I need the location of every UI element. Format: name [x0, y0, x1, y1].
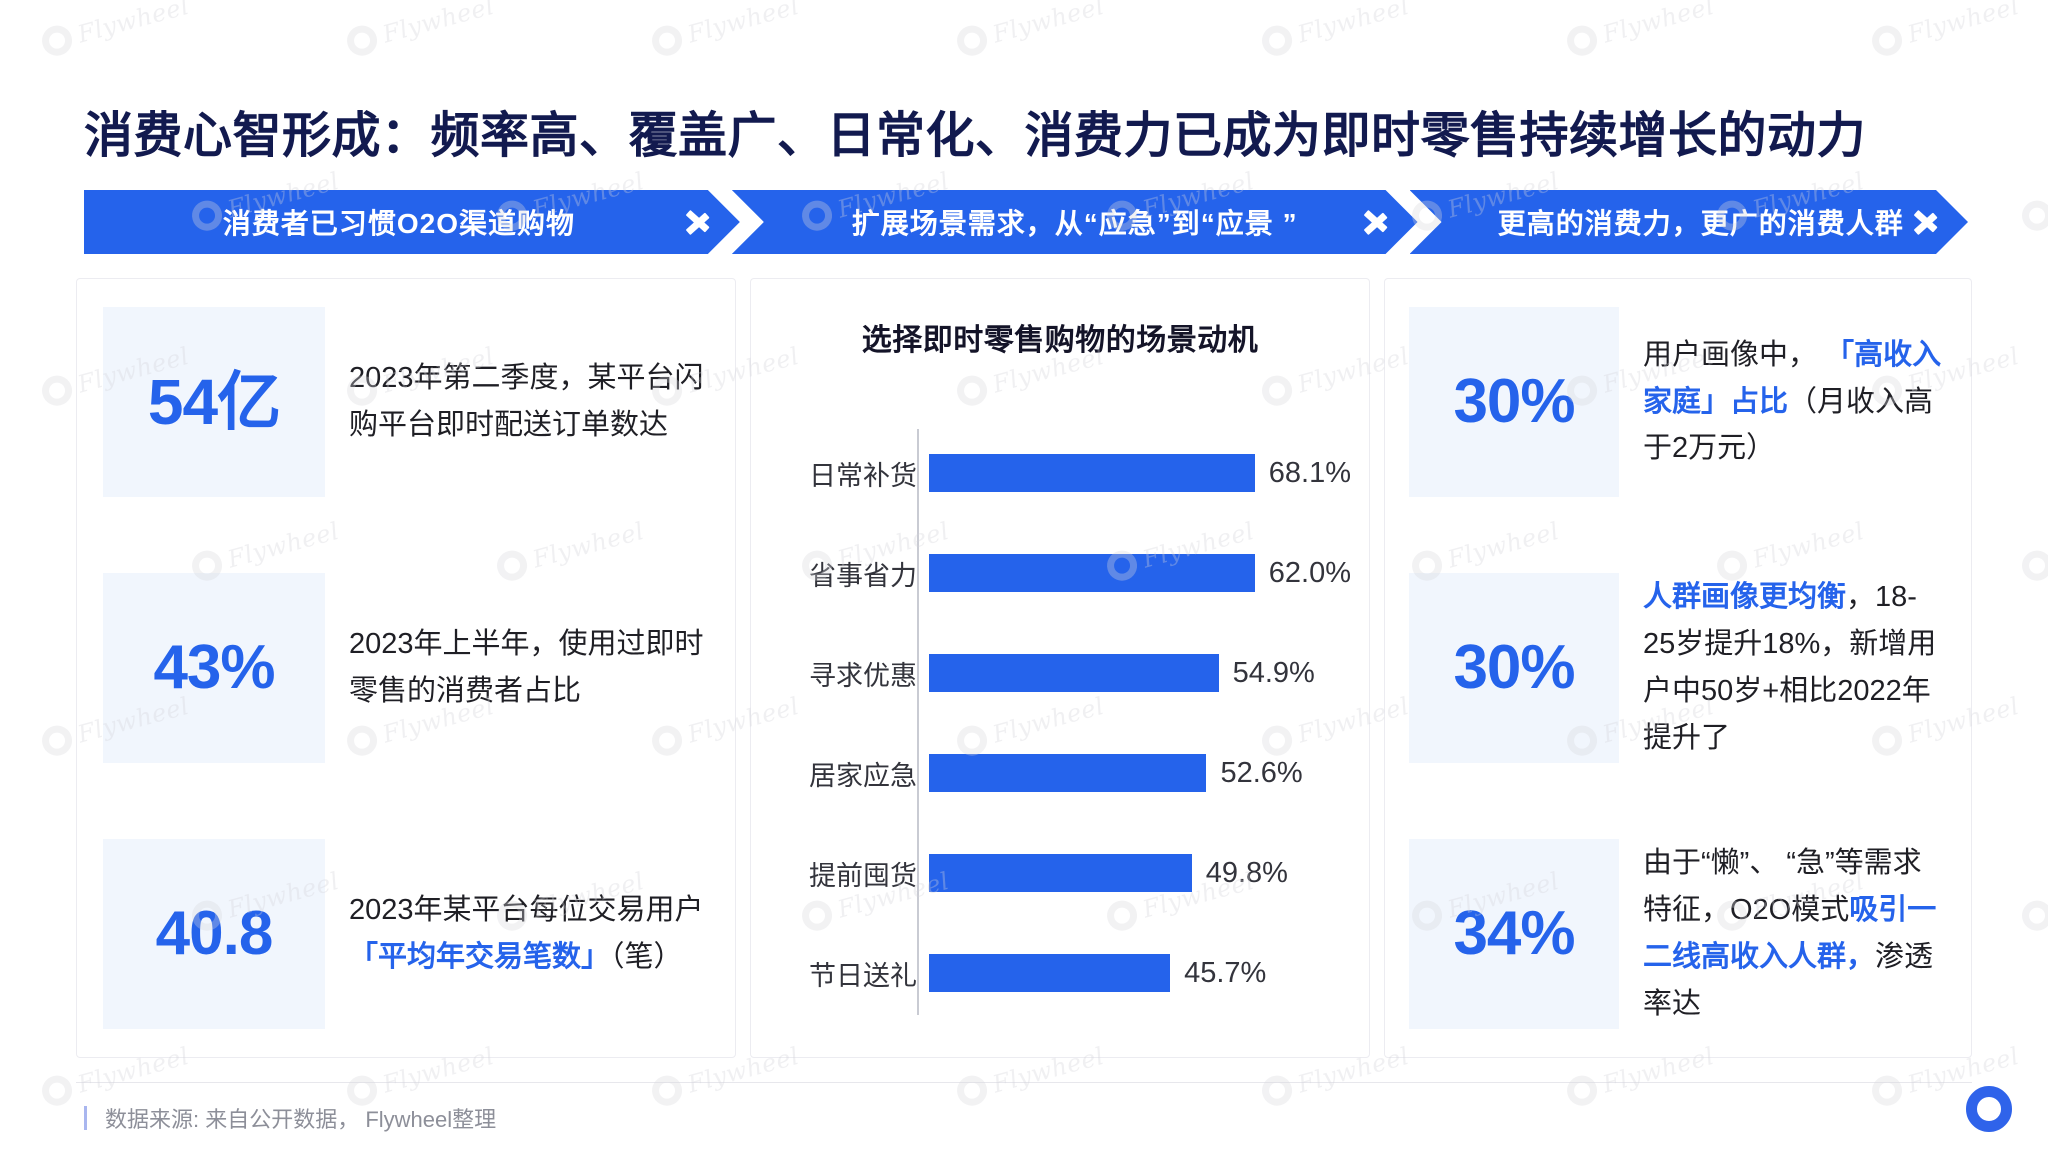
- panel-spending-power: 30% 用户画像中， 「高收入家庭」占比（月收入高于2万元） 30% 人: [1384, 278, 1972, 1058]
- stat-row: 43% 2023年上半年，使用过即时零售的消费者占比: [103, 573, 709, 763]
- stat-value: 30%: [1453, 637, 1574, 699]
- stat-value: 30%: [1453, 371, 1574, 433]
- chart-category-label: 提前囤货: [781, 854, 929, 893]
- watermark: Flywheel: [1259, 0, 1413, 59]
- bar-chart: 日常补货 68.1% 省事省力 62.0%: [769, 423, 1351, 1023]
- watermark-ring-icon: [1564, 22, 1601, 59]
- stat-text-highlight: 「平均年交易笔数」: [349, 941, 610, 973]
- chart-value-label: 49.8%: [1206, 857, 1288, 890]
- chevron-right-icon: [682, 190, 722, 254]
- chart-bar: [929, 654, 1219, 692]
- stat-text-before: 2023年上半年，使用过即时零售的消费者占比: [349, 628, 704, 707]
- chart-bar-track: 45.7%: [929, 947, 1351, 999]
- watermark-ring-icon: [344, 22, 381, 59]
- stat-value-box: 34%: [1409, 839, 1619, 1029]
- chart-bar: [929, 954, 1170, 992]
- watermark-text: Flywheel: [1905, 0, 2022, 48]
- stat-description: 2023年第二季度，某平台闪购平台即时配送订单数达: [349, 307, 709, 497]
- chart-bar: [929, 554, 1255, 592]
- stat-value: 54亿: [148, 370, 280, 434]
- chart-value-label: 45.7%: [1184, 957, 1266, 990]
- watermark: Flywheel: [954, 0, 1108, 59]
- flywheel-logo-icon: [1966, 1086, 2012, 1132]
- chart-bar: [929, 454, 1255, 492]
- section-banner-row: 消费者已习惯O2O渠道购物 扩展场景需求，从“应急”到“应景 ” 更高的消费力，…: [84, 190, 1968, 254]
- banner-consumer-habit[interactable]: 消费者已习惯O2O渠道购物: [84, 190, 740, 254]
- stat-description: 2023年上半年，使用过即时零售的消费者占比: [349, 573, 709, 763]
- watermark: Flywheel: [1564, 0, 1718, 59]
- chart-bar-track: 49.8%: [929, 847, 1351, 899]
- chart-bar: [929, 754, 1206, 792]
- banner-scenario-demand[interactable]: 扩展场景需求，从“应急”到“应景 ”: [732, 190, 1418, 254]
- chart-bar-rows: 日常补货 68.1% 省事省力 62.0%: [781, 423, 1351, 1023]
- banner-label: 消费者已习惯O2O渠道购物: [223, 202, 575, 242]
- stat-value-box: 43%: [103, 573, 325, 763]
- watermark-ring-icon: [2019, 547, 2048, 584]
- watermark: Flywheel: [1869, 0, 2023, 59]
- watermark-ring-icon: [39, 22, 76, 59]
- footer-divider: [76, 1082, 1972, 1083]
- stat-row: 40.8 2023年某平台每位交易用户「平均年交易笔数」（笔）: [103, 839, 709, 1029]
- watermark-ring-icon: [39, 372, 76, 409]
- stat-row: 34% 由于“懒”、 “急”等需求特征，O2O模式吸引一二线高收入人群，渗透率达: [1409, 839, 1947, 1029]
- watermark-ring-icon: [1564, 1072, 1601, 1109]
- watermark: Flywheel: [344, 0, 498, 59]
- stat-description: 人群画像更均衡，18-25岁提升18%，新增用户中50岁+相比2022年提升了: [1643, 573, 1947, 763]
- chart-bar-row: 寻求优惠 54.9%: [781, 647, 1351, 699]
- watermark-text: Flywheel: [75, 0, 192, 48]
- chevron-right-icon: [1910, 190, 1950, 254]
- footer-source-text: 数据来源: 来自公开数据， Flywheel整理: [105, 1102, 496, 1134]
- stat-value: 43%: [153, 637, 274, 699]
- watermark-ring-icon: [954, 1072, 991, 1109]
- content-panels: 54亿 2023年第二季度，某平台闪购平台即时配送订单数达 43% 20: [76, 278, 1972, 1058]
- chart-bar: [929, 854, 1192, 892]
- watermark-text: Flywheel: [1600, 0, 1717, 48]
- watermark-ring-icon: [1869, 1072, 1906, 1109]
- chart-bar-row: 提前囤货 49.8%: [781, 847, 1351, 899]
- watermark-ring-icon: [39, 1072, 76, 1109]
- chart-title: 选择即时零售购物的场景动机: [769, 315, 1351, 359]
- chart-value-label: 52.6%: [1220, 757, 1302, 790]
- chart-bar-track: 68.1%: [929, 447, 1351, 499]
- chart-value-label: 54.9%: [1233, 657, 1315, 690]
- stat-text-before: 2023年第二季度，某平台闪购平台即时配送订单数达: [349, 362, 704, 441]
- stat-value-box: 40.8: [103, 839, 325, 1029]
- stat-text-highlight: 人群画像更均衡: [1643, 581, 1846, 613]
- chart-category-label: 省事省力: [781, 554, 929, 593]
- footer-source: 数据来源: 来自公开数据， Flywheel整理: [84, 1102, 496, 1134]
- watermark-ring-icon: [649, 22, 686, 59]
- page-title: 消费心智形成：频率高、覆盖广、日常化、消费力已成为即时零售持续增长的动力: [84, 96, 1866, 167]
- banner-higher-spending[interactable]: 更高的消费力，更广的消费人群: [1410, 190, 1968, 254]
- chart-category-label: 节日送礼: [781, 954, 929, 993]
- watermark-text: Flywheel: [685, 0, 802, 48]
- banner-label: 更高的消费力，更广的消费人群: [1498, 202, 1904, 242]
- chart-category-label: 寻求优惠: [781, 654, 929, 693]
- watermark-ring-icon: [1259, 22, 1296, 59]
- watermark: Flywheel: [2019, 516, 2048, 584]
- chart-bar-row: 居家应急 52.6%: [781, 747, 1351, 799]
- stat-row: 54亿 2023年第二季度，某平台闪购平台即时配送订单数达: [103, 307, 709, 497]
- watermark: Flywheel: [39, 0, 193, 59]
- watermark: Flywheel: [2019, 866, 2048, 934]
- stat-text-after: （笔）: [610, 941, 683, 973]
- stat-value: 40.8: [156, 903, 273, 965]
- watermark: Flywheel: [2019, 166, 2048, 234]
- stat-row: 30% 用户画像中， 「高收入家庭」占比（月收入高于2万元）: [1409, 307, 1947, 497]
- stat-text-before: 用户画像中，: [1643, 339, 1825, 371]
- stat-description: 2023年某平台每位交易用户「平均年交易笔数」（笔）: [349, 839, 709, 1029]
- watermark-ring-icon: [39, 722, 76, 759]
- chevron-right-icon: [1360, 190, 1400, 254]
- watermark: Flywheel: [649, 0, 803, 59]
- chart-bar-track: 54.9%: [929, 647, 1351, 699]
- panel-consumer-habit: 54亿 2023年第二季度，某平台闪购平台即时配送订单数达 43% 20: [76, 278, 736, 1058]
- chart-bar-track: 52.6%: [929, 747, 1351, 799]
- stat-list-left: 54亿 2023年第二季度，某平台闪购平台即时配送订单数达 43% 20: [103, 307, 709, 1029]
- bullet-bar-icon: [84, 1106, 87, 1130]
- chart-bar-row: 节日送礼 45.7%: [781, 947, 1351, 999]
- chart-value-label: 62.0%: [1269, 557, 1351, 590]
- stat-description: 用户画像中， 「高收入家庭」占比（月收入高于2万元）: [1643, 307, 1947, 497]
- watermark-ring-icon: [1259, 1072, 1296, 1109]
- chart-category-label: 居家应急: [781, 754, 929, 793]
- stat-value-box: 30%: [1409, 573, 1619, 763]
- watermark-text: Flywheel: [1295, 0, 1412, 48]
- watermark-text: Flywheel: [380, 0, 497, 48]
- watermark-ring-icon: [649, 1072, 686, 1109]
- chart-category-label: 日常补货: [781, 454, 929, 493]
- chart-value-label: 68.1%: [1269, 457, 1351, 490]
- chart-bar-track: 62.0%: [929, 547, 1351, 599]
- banner-label: 扩展场景需求，从“应急”到“应景 ”: [852, 202, 1298, 242]
- stat-value-box: 54亿: [103, 307, 325, 497]
- stat-value: 34%: [1453, 903, 1574, 965]
- chart-bar-row: 日常补货 68.1%: [781, 447, 1351, 499]
- panel-scenario-chart: 选择即时零售购物的场景动机 日常补货 68.1% 省事省力: [750, 278, 1370, 1058]
- logo-ring: [1966, 1086, 2012, 1132]
- stat-list-right: 30% 用户画像中， 「高收入家庭」占比（月收入高于2万元） 30% 人: [1409, 307, 1947, 1029]
- watermark-text: Flywheel: [990, 0, 1107, 48]
- stat-text-before: 2023年某平台每位交易用户: [349, 894, 704, 926]
- chart-bar-row: 省事省力 62.0%: [781, 547, 1351, 599]
- stat-value-box: 30%: [1409, 307, 1619, 497]
- watermark-ring-icon: [954, 22, 991, 59]
- stat-row: 30% 人群画像更均衡，18-25岁提升18%，新增用户中50岁+相比2022年…: [1409, 573, 1947, 763]
- slide-root: 消费心智形成：频率高、覆盖广、日常化、消费力已成为即时零售持续增长的动力 消费者…: [0, 0, 2048, 1152]
- watermark-ring-icon: [1869, 22, 1906, 59]
- stat-description: 由于“懒”、 “急”等需求特征，O2O模式吸引一二线高收入人群，渗透率达: [1643, 839, 1947, 1029]
- watermark-ring-icon: [2019, 897, 2048, 934]
- watermark-ring-icon: [2019, 197, 2048, 234]
